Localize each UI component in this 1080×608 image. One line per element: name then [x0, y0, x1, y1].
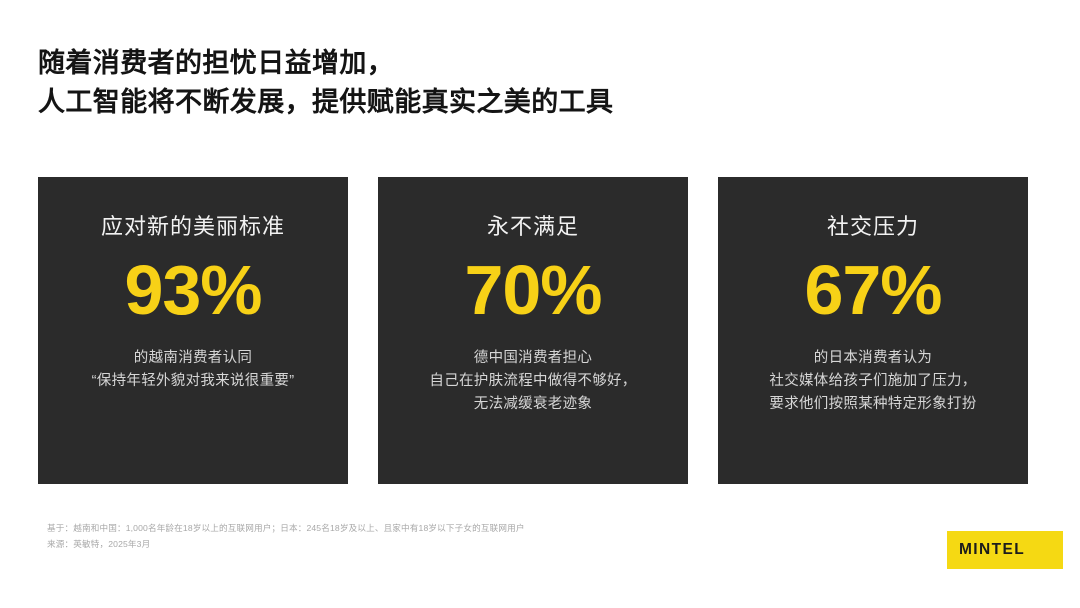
stat-card-body-line: 的越南消费者认同 [92, 347, 295, 370]
slide-root: 随着消费者的担忧日益增加， 人工智能将不断发展，提供赋能真实之美的工具 应对新的… [0, 0, 1080, 608]
stat-card-value: 67% [804, 255, 941, 325]
stat-card-body: 的越南消费者认同 “保持年轻外貌对我来说很重要” [92, 347, 295, 394]
stat-card-body: 的日本消费者认为 社交媒体给孩子们施加了压力， 要求他们按照某种特定形象打扮 [769, 347, 976, 417]
stat-card-body-line: 要求他们按照某种特定形象打扮 [769, 393, 976, 416]
page-title: 随着消费者的担忧日益增加， 人工智能将不断发展，提供赋能真实之美的工具 [38, 44, 998, 122]
stat-card-heading: 永不满足 [487, 213, 579, 241]
page-title-line-2: 人工智能将不断发展，提供赋能真实之美的工具 [38, 83, 998, 122]
stat-card-heading: 社交压力 [827, 213, 919, 241]
mintel-logo: MINTEL [947, 531, 1063, 569]
stat-card-value: 93% [124, 255, 261, 325]
stat-card-body-line: 自己在护肤流程中做得不够好， [429, 370, 636, 393]
stat-card-heading: 应对新的美丽标准 [101, 213, 285, 241]
stat-card-body-line: “保持年轻外貌对我来说很重要” [92, 370, 295, 393]
footnote-source-line: 来源：英敏特，2025年3月 [47, 537, 807, 553]
stat-card-body-line: 的日本消费者认为 [769, 347, 976, 370]
page-title-line-1: 随着消费者的担忧日益增加， [38, 44, 998, 83]
stat-card-new-beauty-standards: 应对新的美丽标准 93% 的越南消费者认同 “保持年轻外貌对我来说很重要” [38, 177, 348, 484]
stat-card-body-line: 无法减缓衰老迹象 [429, 393, 636, 416]
footnote-base-line: 基于：越南和中国：1,000名年龄在18岁以上的互联网用户；日本：245名18岁… [47, 521, 807, 537]
stat-card-value: 70% [464, 255, 601, 325]
stat-card-never-satisfied: 永不满足 70% 德中国消费者担心 自己在护肤流程中做得不够好， 无法减缓衰老迹… [378, 177, 688, 484]
mintel-logo-text: MINTEL [947, 541, 1025, 559]
footnote: 基于：越南和中国：1,000名年龄在18岁以上的互联网用户；日本：245名18岁… [47, 521, 807, 553]
stat-card-body: 德中国消费者担心 自己在护肤流程中做得不够好， 无法减缓衰老迹象 [429, 347, 636, 417]
stat-card-social-pressure: 社交压力 67% 的日本消费者认为 社交媒体给孩子们施加了压力， 要求他们按照某… [718, 177, 1028, 484]
stat-card-row: 应对新的美丽标准 93% 的越南消费者认同 “保持年轻外貌对我来说很重要” 永不… [38, 177, 1028, 484]
stat-card-body-line: 社交媒体给孩子们施加了压力， [769, 370, 976, 393]
stat-card-body-line: 德中国消费者担心 [429, 347, 636, 370]
